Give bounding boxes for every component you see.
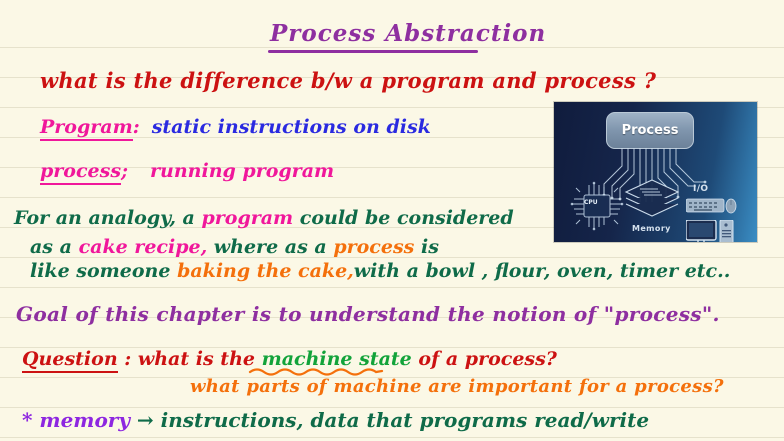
analogy-l3-a: like someone [30,260,177,282]
process-term: process [40,160,121,185]
io-label: I/O [693,184,709,194]
memory-description: instructions, data that programs read/wr… [161,408,649,432]
analogy-l2-cake-recipe: cake recipe, [79,236,208,258]
analogy-l3-c: with a bowl , flour, oven, timer etc.. [354,260,731,282]
question-label: Question [22,348,118,373]
question-difference-line: what is the difference b/w a program and… [40,70,656,91]
question-part-a: what is the [138,348,262,370]
arrow-icon: → [130,408,161,432]
analogy-l2-process: process [333,236,414,258]
analogy-l2-a: as a [30,236,79,258]
process-separator: ; [121,160,128,182]
keyboard-mouse-icon [686,196,742,218]
analogy-line-1: For an analogy, a program could be consi… [14,207,514,229]
program-definition-text: static instructions on disk [152,116,431,138]
process-definition-row: process;running program [40,160,334,182]
program-separator: : [133,116,140,138]
memory-label: Memory [632,224,671,233]
monitor-tower-icon [686,220,742,242]
analogy-l2-c: where as a [207,236,333,258]
program-definition-row: Program:static instructions on disk [40,116,431,138]
memory-term: memory [39,408,130,432]
question-separator: : [118,348,138,370]
cpu-label: CPU [584,199,598,206]
analogy-l1-a: For an analogy, a [14,207,201,229]
question-part-b: of a process? [412,348,557,370]
notebook-page: Process Abstraction what is the differen… [0,0,784,441]
goal-line: Goal of this chapter is to understand th… [16,304,720,324]
analogy-l1-c: could be considered [293,207,514,229]
memory-bullet-row: * memory → instructions, data that progr… [22,408,649,432]
analogy-l3-baking: baking the cake, [177,260,354,282]
analogy-l1-program: program [201,207,293,229]
memory-stack-icon [622,178,682,226]
process-definition-text: running program [150,160,334,182]
analogy-l2-e: is [414,236,439,258]
program-term: Program [40,116,133,141]
bullet-star-icon: * [22,408,39,432]
title-underline [268,50,478,53]
analogy-line-3: like someone baking the cake,with a bowl… [30,260,730,282]
analogy-line-2: as a cake recipe, where as a process is [30,236,439,258]
wavy-underline-icon [250,366,382,376]
page-title: Process Abstraction [270,22,546,45]
question-subline: what parts of machine are important for … [190,378,724,396]
process-abstraction-image: Process [554,102,757,242]
image-inner: Process [554,102,757,242]
